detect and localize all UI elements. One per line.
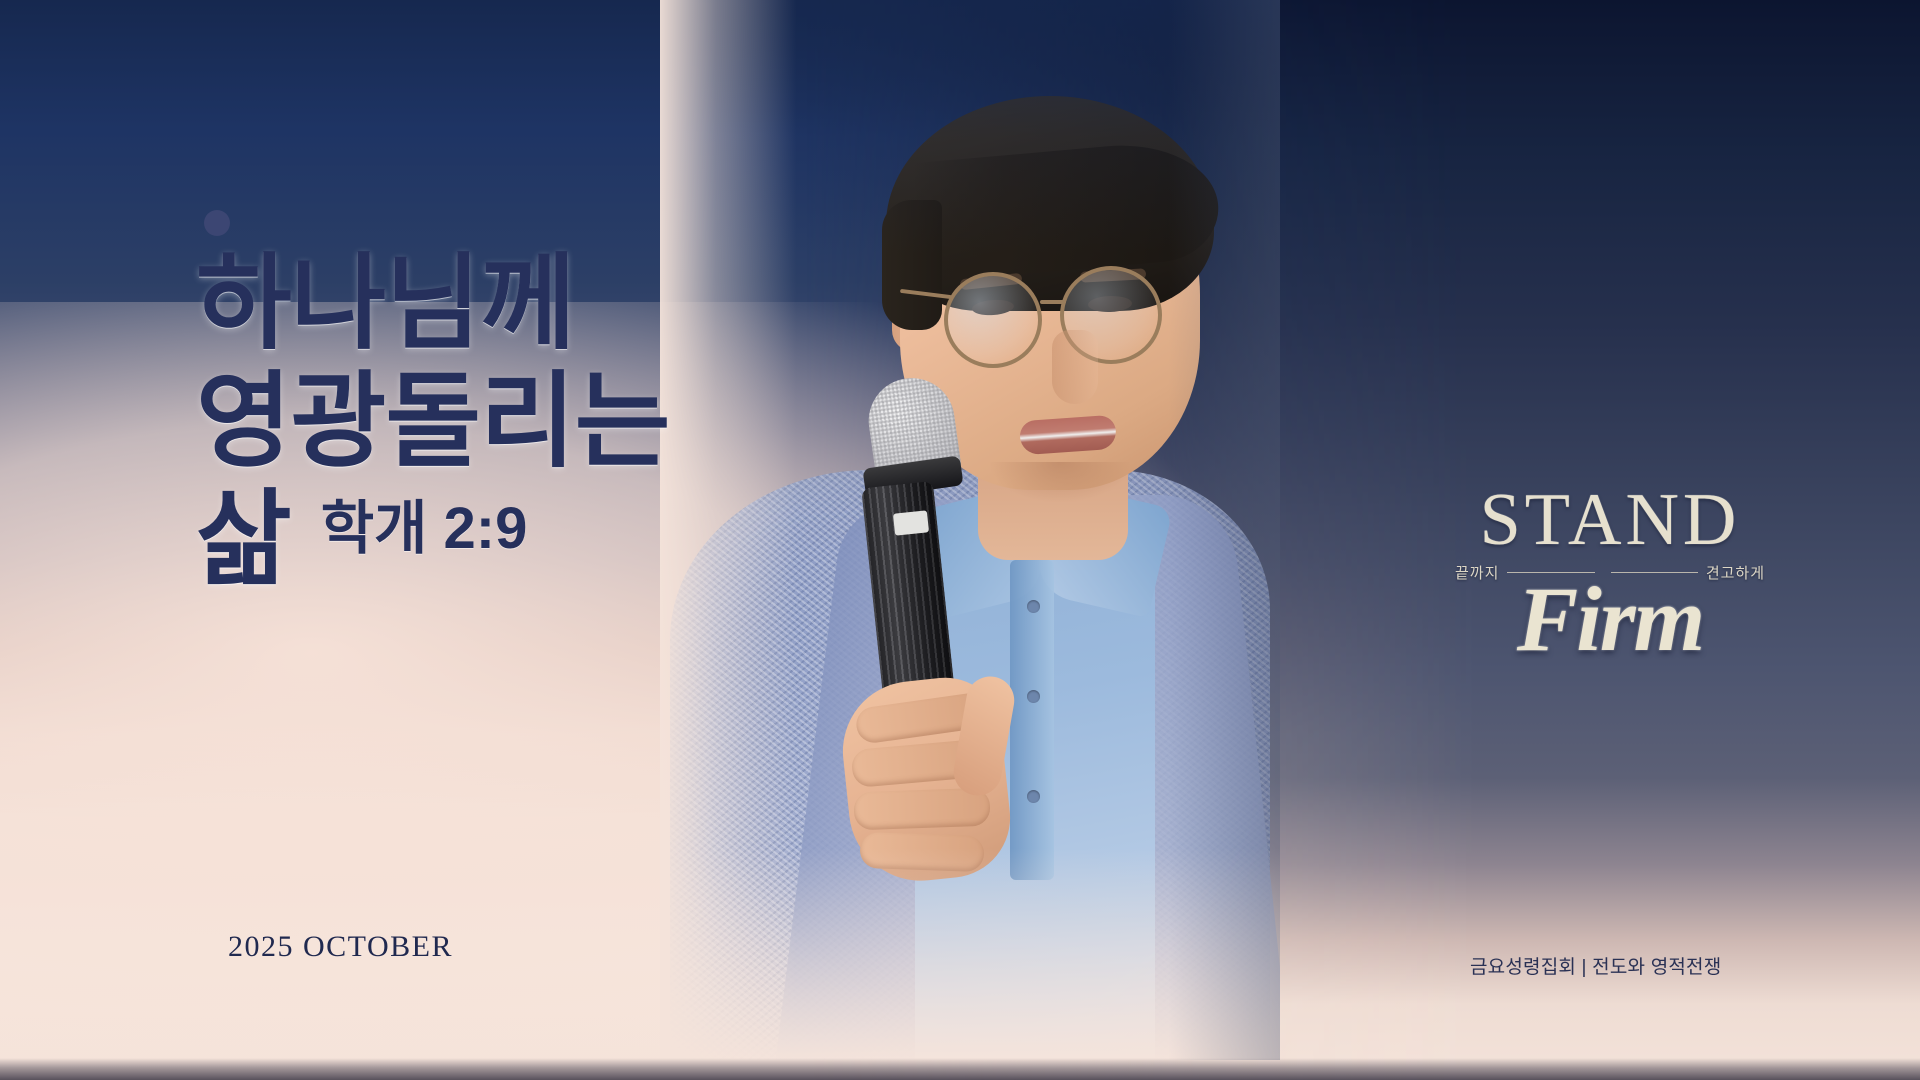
date-label: 2025 OCTOBER [228,930,453,964]
logo-wordmark-stand: STAND [1455,478,1765,563]
stand-firm-logo: STAND 끝까지 견고하게 Firm [1455,470,1765,660]
sermon-title-poster: 하나님께 영광돌리는 삶 학개 2:9 2025 OCTOBER STAND 끝… [0,0,1920,1080]
headline-line-2: 영광돌리는 [196,364,836,482]
scripture-reference: 학개 2:9 [321,470,528,588]
nose [1052,330,1098,404]
headline-line-3: 삶 [196,482,291,600]
logo-wordmark-firm: Firm [1455,566,1765,672]
chin-shadow [990,462,1130,502]
finger [859,832,984,872]
footer-caption: 금요성령집회 | 전도와 영적전쟁 [1470,952,1721,979]
hair-side [882,200,942,330]
microphone-label [893,510,929,535]
shirt-button [1027,690,1040,703]
headline-accent-dot [204,210,230,236]
headline-line-3-row: 삶 학개 2:9 [196,482,836,600]
headline-block: 하나님께 영광돌리는 삶 학개 2:9 [196,246,836,600]
glasses-lens-left [944,272,1042,368]
shirt-button [1027,600,1040,613]
shirt-button [1027,790,1040,803]
mouth [1019,415,1117,456]
headline-line-1: 하나님께 [196,246,836,364]
bottom-edge-strip [0,1058,1920,1080]
glasses-bridge [1040,300,1066,304]
